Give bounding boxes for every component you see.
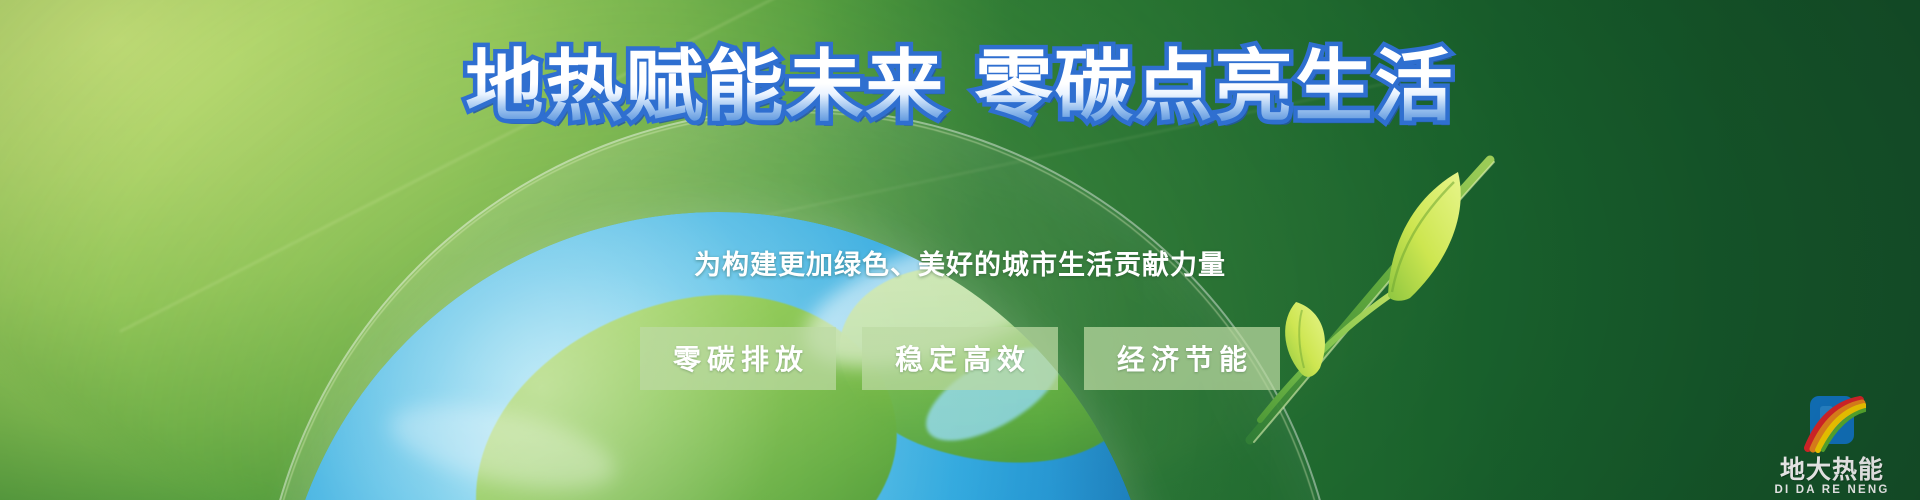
- page-title: 地热赋能未来 零碳点亮生活 地热赋能未来 零碳点亮生活: [0, 48, 1920, 126]
- hero-banner: 地热赋能未来 零碳点亮生活 地热赋能未来 零碳点亮生活 为构建更加绿色、美好的城…: [0, 0, 1920, 500]
- page-title-text: 地热赋能未来 零碳点亮生活: [465, 42, 1454, 132]
